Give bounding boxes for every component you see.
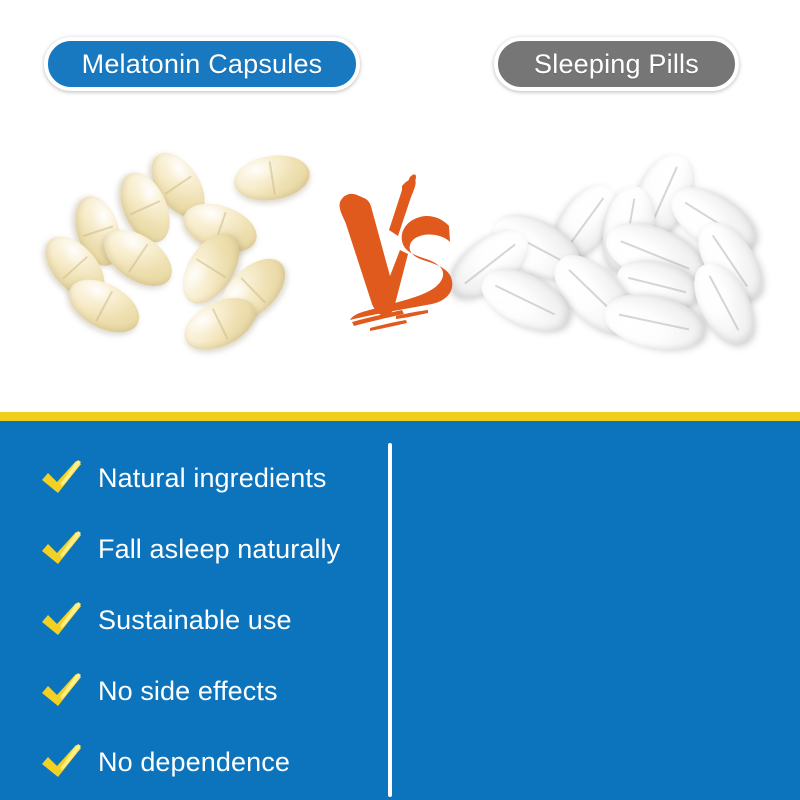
cons-column: Chemical composition Drug stimulation xyxy=(400,421,800,800)
sleeping-pills-photo xyxy=(452,148,772,353)
feature-row: Chemical composition xyxy=(400,443,800,514)
check-icon xyxy=(40,744,98,782)
badge-left-label: Melatonin Capsules xyxy=(82,49,323,80)
badge-sleeping-pills: Sleeping Pills xyxy=(494,37,739,91)
badge-right-label: Sleeping Pills xyxy=(534,49,699,80)
feature-label: No side effects xyxy=(98,678,278,705)
capsule xyxy=(231,150,313,205)
check-icon xyxy=(40,531,98,569)
feature-label: Sustainable use xyxy=(98,607,292,634)
feature-row: Fall asleep naturally xyxy=(0,514,400,585)
feature-row: Easy to rely on xyxy=(400,727,800,798)
badge-melatonin-capsules: Melatonin Capsules xyxy=(44,37,360,91)
feature-row: No side effects xyxy=(0,656,400,727)
feature-label: No dependence xyxy=(98,749,290,776)
feature-row: Damage the liver xyxy=(400,656,800,727)
versus-icon xyxy=(336,172,454,340)
header-badge-row: Melatonin Capsules Sleeping Pills xyxy=(0,0,800,120)
feature-label: Fall asleep naturally xyxy=(98,536,340,563)
comparison-panel: Natural ingredients Fall asleep naturall… xyxy=(0,421,800,800)
comparison-infographic: Melatonin Capsules Sleeping Pills xyxy=(0,0,800,800)
check-icon xyxy=(40,460,98,498)
feature-label: Natural ingredients xyxy=(98,465,327,492)
feature-row: Sustainable use xyxy=(0,585,400,656)
feature-row: No dependence xyxy=(0,727,400,798)
feature-row: No significant effect xyxy=(400,585,800,656)
feature-row: Natural ingredients xyxy=(0,443,400,514)
pros-column: Natural ingredients Fall asleep naturall… xyxy=(0,421,400,800)
check-icon xyxy=(40,673,98,711)
photo-fade xyxy=(0,360,800,412)
panel-top-rule xyxy=(0,412,800,421)
feature-row: Drug stimulation xyxy=(400,514,800,585)
melatonin-capsules-photo xyxy=(30,150,330,350)
check-icon xyxy=(40,602,98,640)
